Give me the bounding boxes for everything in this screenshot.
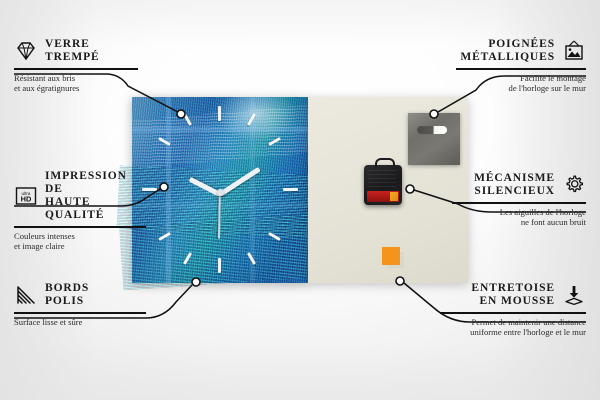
- hour-tick: [183, 113, 192, 126]
- clock-second-hand: [218, 193, 220, 239]
- callout-title: BORDS: [45, 282, 89, 295]
- divider: [456, 68, 586, 70]
- callout-bords-polis: BORDS POLIS Surface lisse et sûre: [14, 282, 146, 327]
- gear-icon: [562, 173, 586, 197]
- callout-desc: Surface lisse et sûre: [14, 317, 146, 327]
- grid-line-vertical: [166, 97, 171, 283]
- callout-entretoise-en-mousse: ENTRETOISE EN MOUSSE Permet de maintenir…: [440, 282, 586, 337]
- callout-desc: Résistant aux bris: [14, 73, 138, 83]
- callout-title: VERRE: [45, 38, 100, 51]
- callout-desc: Les aiguilles de l'horloge: [452, 207, 586, 217]
- divider: [14, 226, 146, 228]
- clock-back-panel: [308, 97, 468, 283]
- callout-desc: et aux égratignures: [14, 83, 138, 93]
- callout-desc: uniforme entre l'horloge et le mur: [440, 327, 586, 337]
- clock-center-cap: [217, 189, 224, 196]
- divider: [14, 312, 146, 314]
- ultra-hd-icon: ultra HD: [14, 184, 38, 208]
- callout-desc: ne font aucun bruit: [452, 217, 586, 227]
- mechanism-hook: [375, 158, 395, 169]
- callout-title: MÉTALLIQUES: [460, 51, 555, 64]
- callout-desc: de l'horloge sur le mur: [456, 83, 586, 93]
- hour-tick: [218, 106, 221, 121]
- divider: [14, 68, 138, 70]
- callout-title: POIGNÉES: [460, 38, 555, 51]
- callout-title: TREMPÉ: [45, 51, 100, 64]
- product-image: [132, 97, 468, 283]
- clock-face-panel: [132, 97, 308, 283]
- callout-poignees-metalliques: POIGNÉES MÉTALLIQUES Facilite le montage…: [456, 38, 586, 93]
- callout-verre-trempe: VERRE TREMPÉ Résistant aux bris et aux é…: [14, 38, 138, 93]
- metal-hanger-plate: [408, 113, 460, 165]
- foam-spacer: [382, 247, 400, 265]
- callout-desc: Permet de maintenir une distance: [440, 317, 586, 327]
- foam-spacer-icon: [562, 283, 586, 307]
- callout-desc: et image claire: [14, 241, 146, 251]
- callout-mecanisme-silencieux: MÉCANISME SILENCIEUX Les aiguilles de l'…: [452, 172, 586, 227]
- clock-mechanism: [364, 165, 402, 205]
- diamond-icon: [14, 39, 38, 63]
- infographic-canvas: VERRE TREMPÉ Résistant aux bris et aux é…: [0, 0, 600, 400]
- callout-desc: Couleurs intenses: [14, 231, 146, 241]
- divider: [452, 202, 586, 204]
- polished-edges-icon: [14, 283, 38, 307]
- mechanism-detail: [368, 170, 396, 188]
- callout-title: POLIS: [45, 295, 89, 308]
- callout-title: MÉCANISME: [474, 172, 555, 185]
- callout-impression-haute-qualite: ultra HD IMPRESSION DE HAUTE QUALITÉ Cou…: [14, 170, 146, 251]
- highlight-glow: [216, 86, 297, 142]
- hour-tick: [268, 232, 281, 241]
- callout-title: ENTRETOISE: [471, 282, 555, 295]
- hour-tick: [218, 258, 221, 273]
- callout-title: EN MOUSSE: [471, 295, 555, 308]
- callout-title: HAUTE QUALITÉ: [45, 196, 146, 222]
- hour-tick: [283, 188, 298, 191]
- callout-title: IMPRESSION DE: [45, 170, 146, 196]
- divider: [440, 312, 586, 314]
- svg-text:HD: HD: [21, 195, 32, 204]
- callout-title: SILENCIEUX: [474, 185, 555, 198]
- callout-desc: Facilite le montage: [456, 73, 586, 83]
- hour-tick: [183, 252, 192, 265]
- battery: [367, 191, 399, 202]
- picture-hanger-icon: [562, 39, 586, 63]
